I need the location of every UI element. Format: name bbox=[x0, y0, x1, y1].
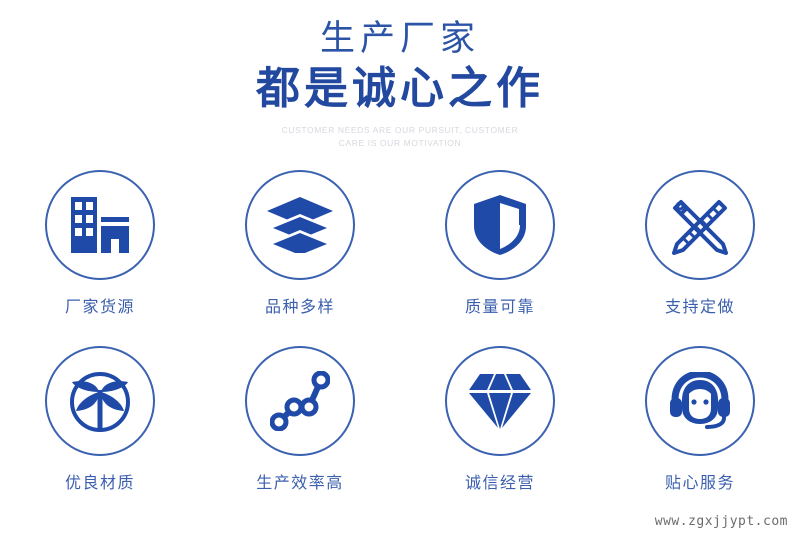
feature-icon-circle bbox=[445, 346, 555, 456]
feature-label: 支持定做 bbox=[665, 298, 735, 318]
feature-label: 厂家货源 bbox=[65, 298, 135, 318]
pencil-ruler-icon bbox=[669, 194, 731, 256]
feature-item-material[interactable]: 优良材质 bbox=[0, 346, 200, 522]
page-title-line2: 都是诚心之作 bbox=[0, 62, 800, 116]
feature-item-service[interactable]: 贴心服务 bbox=[600, 346, 800, 522]
promo-banner: 生产厂家 都是诚心之作 CUSTOMER NEEDS ARE OUR PURSU… bbox=[0, 0, 800, 537]
feature-item-quality[interactable]: 质量可靠 bbox=[400, 170, 600, 346]
feature-item-custom-made[interactable]: 支持定做 bbox=[600, 170, 800, 346]
diamond-gem-icon bbox=[467, 372, 533, 430]
feature-item-variety[interactable]: 品种多样 bbox=[200, 170, 400, 346]
header-subtitle-line1: CUSTOMER NEEDS ARE OUR PURSUIT, CUSTOMER bbox=[0, 124, 800, 137]
feature-icon-circle bbox=[245, 346, 355, 456]
feature-icon-circle bbox=[45, 346, 155, 456]
headset-support-icon bbox=[667, 372, 733, 430]
feature-item-factory-source[interactable]: 厂家货源 bbox=[0, 170, 200, 346]
feature-label: 品种多样 bbox=[265, 298, 335, 318]
feature-icon-circle bbox=[45, 170, 155, 280]
page-title-line1: 生产厂家 bbox=[0, 18, 800, 60]
layers-stack-icon bbox=[267, 197, 333, 253]
header-subtitle-line2: CARE IS OUR MOTIVATION bbox=[0, 137, 800, 150]
feature-label: 贴心服务 bbox=[665, 474, 735, 494]
shield-check-icon bbox=[472, 194, 528, 256]
feature-icon-circle bbox=[645, 346, 755, 456]
feature-icon-circle bbox=[445, 170, 555, 280]
sprout-leaf-icon bbox=[68, 370, 132, 432]
factory-building-icon bbox=[69, 197, 131, 253]
header-subtitle: CUSTOMER NEEDS ARE OUR PURSUIT, CUSTOMER… bbox=[0, 124, 800, 150]
site-watermark: www.zgxjjypt.com bbox=[655, 514, 788, 529]
feature-item-integrity[interactable]: 诚信经营 bbox=[400, 346, 600, 522]
feature-label: 质量可靠 bbox=[465, 298, 535, 318]
header-block: 生产厂家 都是诚心之作 CUSTOMER NEEDS ARE OUR PURSU… bbox=[0, 18, 800, 150]
feature-label: 生产效率高 bbox=[256, 474, 344, 494]
rising-node-chart-icon bbox=[270, 371, 330, 431]
feature-grid: 厂家货源 品种多样 bbox=[0, 170, 800, 522]
feature-icon-circle bbox=[645, 170, 755, 280]
feature-label: 优良材质 bbox=[65, 474, 135, 494]
feature-label: 诚信经营 bbox=[465, 474, 535, 494]
feature-item-efficiency[interactable]: 生产效率高 bbox=[200, 346, 400, 522]
feature-icon-circle bbox=[245, 170, 355, 280]
